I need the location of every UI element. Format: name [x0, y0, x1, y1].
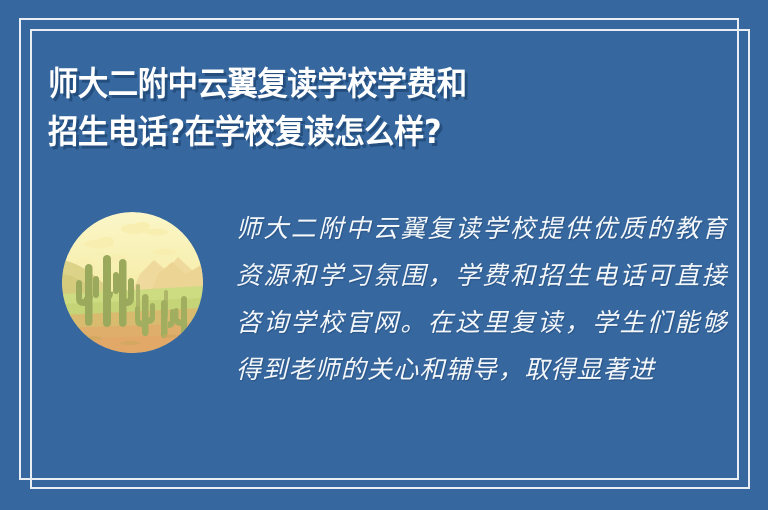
content-row: 师大二附中云翼复读学校提供优质的教育资源和学习氛围，学费和招生电话可直接咨询学校… — [48, 205, 728, 470]
page-title: 师大二附中云翼复读学校学费和 招生电话?在学校复读怎么样? — [48, 60, 518, 156]
title-line-2: 招生电话?在学校复读怎么样? — [48, 108, 480, 156]
body-text-container: 师大二附中云翼复读学校提供优质的教育资源和学习氛围，学费和招生电话可直接咨询学校… — [236, 205, 728, 463]
poster-canvas: 师大二附中云翼复读学校学费和 招生电话?在学校复读怎么样? — [0, 0, 768, 510]
illustration-container — [62, 212, 203, 353]
desert-cactus-scene-icon — [62, 212, 203, 353]
body-paragraph: 师大二附中云翼复读学校提供优质的教育资源和学习氛围，学费和招生电话可直接咨询学校… — [236, 205, 728, 393]
title-line-1: 师大二附中云翼复读学校学费和 — [48, 60, 480, 108]
